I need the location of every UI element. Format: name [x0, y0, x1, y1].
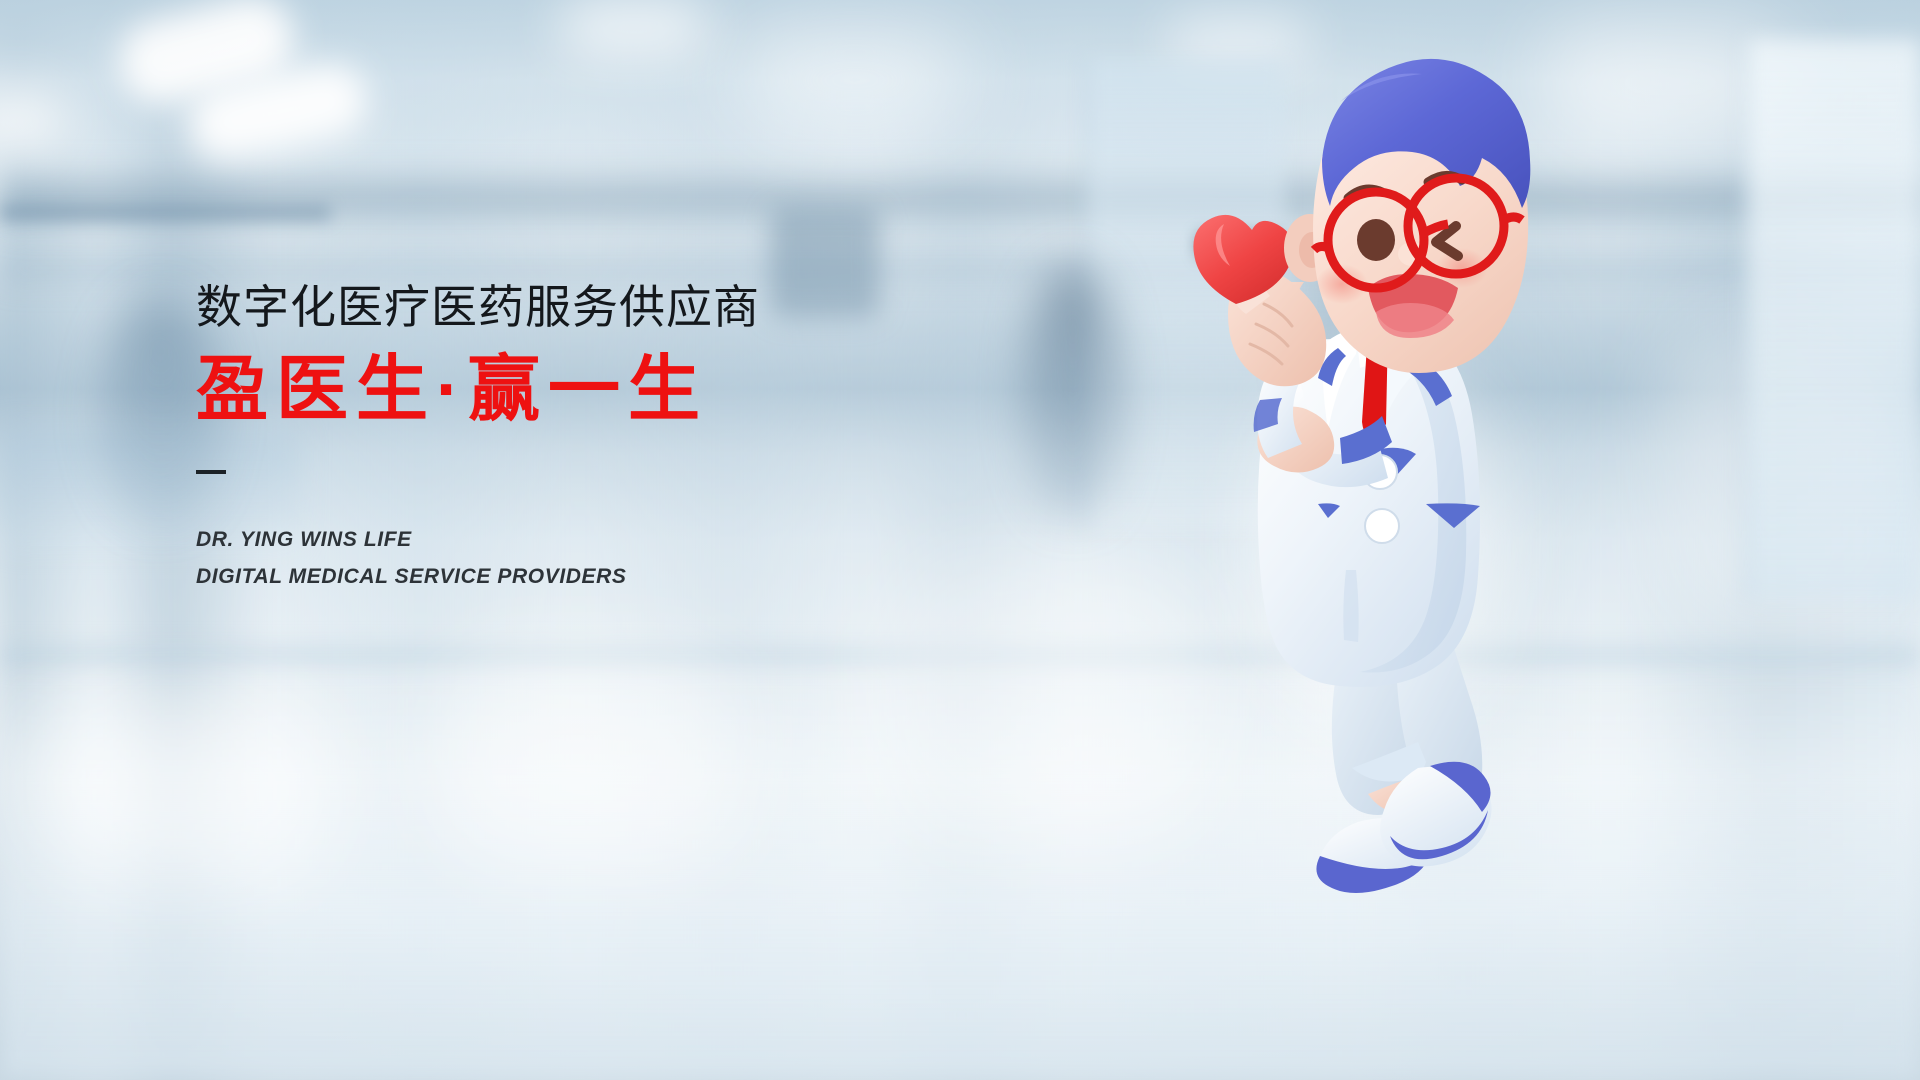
mascot-eye-open: [1357, 219, 1395, 261]
english-tagline-block: DR. YING WINS LIFE DIGITAL MEDICAL SERVI…: [196, 522, 916, 596]
headline-subtitle: 数字化医疗医药服务供应商: [196, 282, 916, 334]
doctor-mascot-illustration: [1190, 52, 1610, 902]
english-tagline-secondary: DIGITAL MEDICAL SERVICE PROVIDERS: [196, 559, 916, 596]
english-tagline-primary: DR. YING WINS LIFE: [196, 522, 916, 559]
page-title: 盈医生·赢一生: [196, 350, 916, 431]
banner-stage: 数字化医疗医药服务供应商 盈医生·赢一生 DR. YING WINS LIFE …: [0, 0, 1920, 1080]
mascot-head: [1313, 59, 1530, 373]
divider: [196, 470, 226, 474]
hero-text-block: 数字化医疗医药服务供应商 盈医生·赢一生 DR. YING WINS LIFE …: [196, 282, 916, 596]
